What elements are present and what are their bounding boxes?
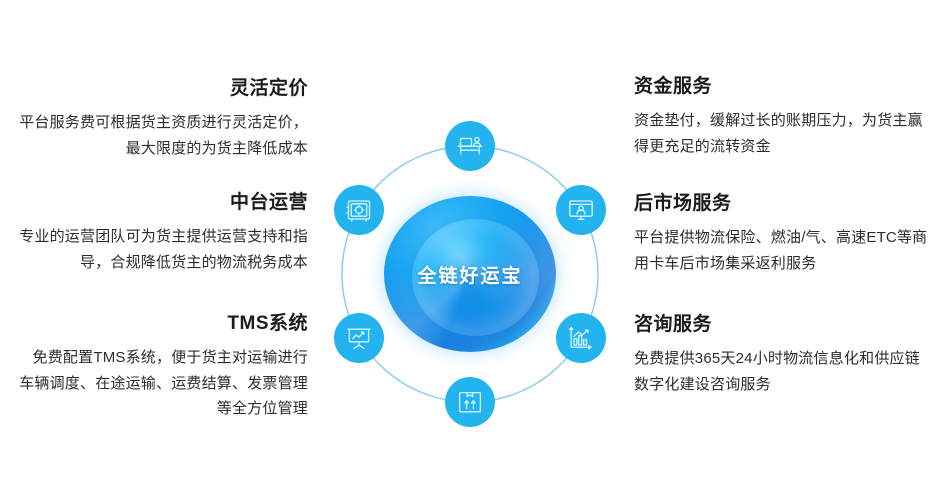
feature-body-aftermarket: 平台提供物流保险、燃油/气、高速ETC等商用卡车后市场集采返利服务 xyxy=(634,225,934,277)
feature-heading-tms: TMS系统 xyxy=(18,313,308,336)
circular-diagram: 全链好运宝 xyxy=(282,72,658,472)
feature-block-flexible-pricing: 灵活定价 平台服务费可根据货主资质进行灵活定价，最大限度的为货主降低成本 xyxy=(8,78,308,161)
monitor-person-icon xyxy=(567,196,595,224)
infographic-canvas: 灵活定价 平台服务费可根据货主资质进行灵活定价，最大限度的为货主降低成本 中台运… xyxy=(0,0,934,500)
node-bar-chart-growth[interactable] xyxy=(556,313,606,363)
center-brand-label: 全链好运宝 xyxy=(417,261,522,288)
center-brand-circle: 全链好运宝 xyxy=(384,196,556,352)
presentation-chart-icon xyxy=(345,324,373,352)
feature-block-tms: TMS系统 免费配置TMS系统，便于货主对运输进行车辆调度、在途运输、运费结算、… xyxy=(18,313,308,422)
feature-block-midend-ops: 中台运营 专业的运营团队可为货主提供运营支持和指导，合规降低货主的物流税务成本 xyxy=(2,192,308,275)
node-presentation-chart[interactable] xyxy=(334,313,384,363)
bar-chart-growth-icon xyxy=(567,324,595,352)
package-box-icon xyxy=(456,388,484,416)
node-safe-vault[interactable] xyxy=(334,185,384,235)
node-monitor-person[interactable] xyxy=(556,185,606,235)
feature-block-consulting: 咨询服务 免费提供365天24小时物流信息化和供应链数字化建设咨询服务 xyxy=(634,314,934,397)
feature-block-fund-service: 资金服务 资金垫付，缓解过长的账期压力，为货主赢得更充足的流转资金 xyxy=(634,76,934,159)
feature-block-aftermarket: 后市场服务 平台提供物流保险、燃油/气、高速ETC等商用卡车后市场集采返利服务 xyxy=(634,193,934,276)
feature-body-flexible-pricing: 平台服务费可根据货主资质进行灵活定价，最大限度的为货主降低成本 xyxy=(8,110,308,162)
feature-heading-consulting: 咨询服务 xyxy=(634,314,934,337)
node-desk-workstation[interactable] xyxy=(445,121,495,171)
feature-body-midend-ops: 专业的运营团队可为货主提供运营支持和指导，合规降低货主的物流税务成本 xyxy=(2,224,308,276)
safe-vault-icon xyxy=(345,196,373,224)
feature-body-fund-service: 资金垫付，缓解过长的账期压力，为货主赢得更充足的流转资金 xyxy=(634,108,934,160)
feature-heading-midend-ops: 中台运营 xyxy=(2,192,308,215)
node-package-box[interactable] xyxy=(445,377,495,427)
feature-body-tms: 免费配置TMS系统，便于货主对运输进行车辆调度、在途运输、运费结算、发票管理等全… xyxy=(18,345,308,422)
feature-heading-aftermarket: 后市场服务 xyxy=(634,193,934,216)
desk-workstation-icon xyxy=(456,132,484,160)
feature-heading-fund-service: 资金服务 xyxy=(634,76,934,99)
feature-heading-flexible-pricing: 灵活定价 xyxy=(8,78,308,101)
feature-body-consulting: 免费提供365天24小时物流信息化和供应链数字化建设咨询服务 xyxy=(634,346,934,398)
